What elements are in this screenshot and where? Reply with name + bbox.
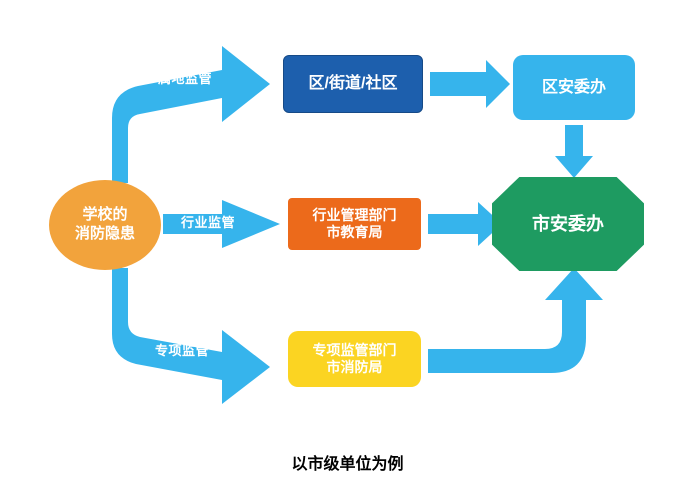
arrow-label-industry-supervision: 行业监管: [181, 212, 235, 231]
arrow-district-committee-to-city: [555, 125, 593, 178]
node-school-fire-hazard[interactable]: 学校的 消防隐患: [49, 180, 161, 270]
arrow-label-local-supervision: 属地监管: [158, 68, 212, 87]
node-city-safety-committee[interactable]: 市安委办: [492, 177, 644, 271]
node-special-supervision-dept[interactable]: 专项监管部门 市消防局: [288, 331, 421, 387]
arrow-special-to-city: [428, 268, 603, 373]
node-district-safety-committee[interactable]: 区安委办: [513, 55, 635, 120]
node-city-safety-committee-label: 市安委办: [532, 213, 604, 236]
arrow-special-supervision: [112, 268, 270, 404]
node-special-supervision-dept-label: 专项监管部门 市消防局: [313, 342, 397, 377]
node-industry-management-dept[interactable]: 行业管理部门 市教育局: [288, 198, 421, 250]
node-district-safety-committee-label: 区安委办: [542, 78, 606, 98]
arrow-industry-to-city: [428, 202, 502, 246]
node-district-street-community-label: 区/街道/社区: [309, 74, 398, 94]
arrow-district-to-district-committee: [430, 60, 510, 108]
arrow-local-supervision: [112, 46, 270, 183]
node-school-fire-hazard-label: 学校的 消防隐患: [75, 206, 135, 244]
node-industry-management-dept-label: 行业管理部门 市教育局: [313, 207, 397, 242]
node-district-street-community[interactable]: 区/街道/社区: [283, 55, 423, 113]
diagram-caption: 以市级单位为例: [0, 450, 695, 474]
arrow-label-special-supervision: 专项监管: [155, 340, 209, 359]
